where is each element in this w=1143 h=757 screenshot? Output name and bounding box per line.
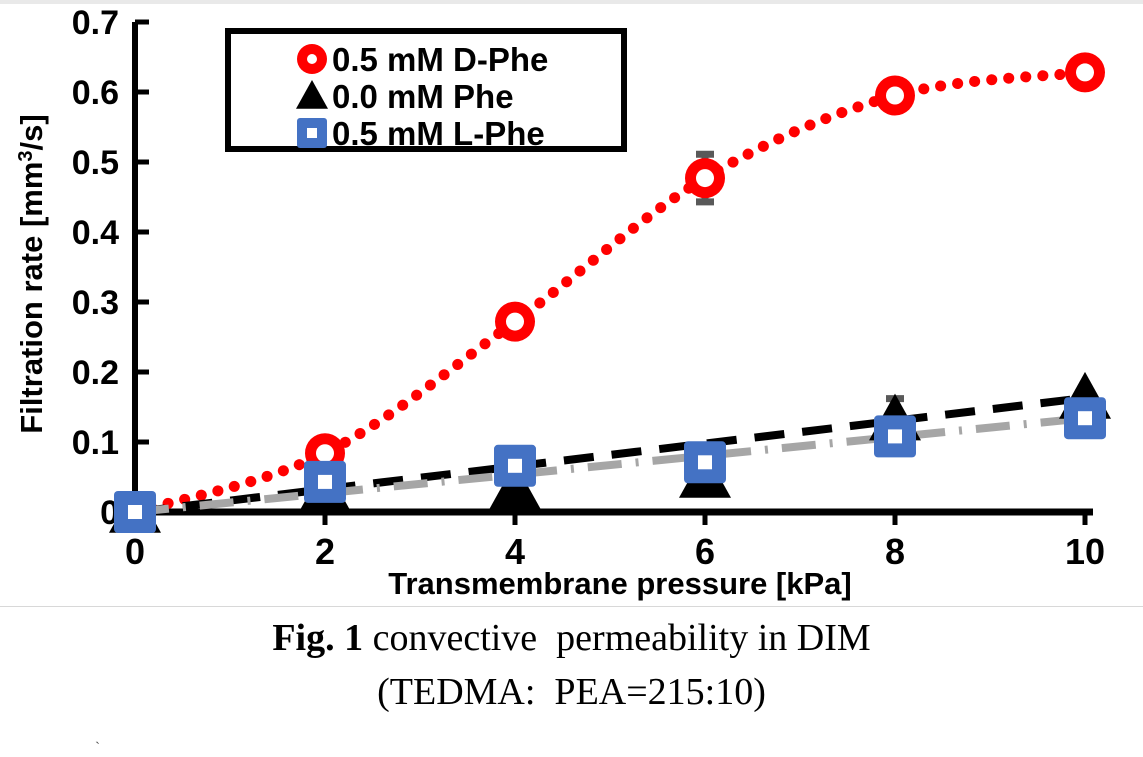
y-tick-label: 0.1 (72, 424, 119, 462)
legend-marker-circle-inner (307, 54, 317, 64)
x-axis-title: Transmembrane pressure [kPa] (388, 566, 852, 601)
legend-entry: 0.5 mM D-Phe (297, 41, 548, 78)
figure-caption: Fig. 1 convective permeability in DIM (T… (0, 612, 1143, 720)
y-tick-label: 0.5 (72, 144, 119, 182)
y-tick-label: 0.3 (72, 284, 119, 322)
caption-line-1: Fig. 1 convective permeability in DIM (0, 612, 1143, 666)
legend-marker-square-inner (307, 128, 317, 138)
y-tick-label: 0.6 (72, 74, 119, 112)
data-point-group (114, 491, 156, 533)
legend-entry: 0.5 mM L-Phe (297, 115, 545, 152)
marker-square-inner (318, 475, 332, 489)
marker-square-inner (698, 455, 712, 469)
marker-circle-inner (1076, 63, 1094, 81)
data-point-group (304, 461, 346, 503)
y-axis-title-suffix: /s] (14, 114, 49, 150)
chart-figure: 00.10.20.30.40.50.60.7 0246810 Filtratio… (0, 4, 1143, 608)
page-corner-mark: ` (95, 740, 100, 757)
y-tick-label: 0.7 (72, 4, 119, 42)
x-tick-label: 10 (1065, 531, 1105, 572)
x-tick-label: 0 (125, 531, 145, 572)
svg-text:Filtration rate [mm3/s]: Filtration rate [mm3/s] (14, 114, 49, 433)
chart-legend: 0.5 mM D-Phe0.0 mM Phe0.5 mM L-Phe (228, 31, 624, 152)
y-axis-title-superscript: 3 (15, 150, 37, 161)
x-tick-label: 2 (315, 531, 335, 572)
marker-circle-inner (696, 169, 714, 187)
x-axis-title-text: Transmembrane pressure [kPa] (388, 566, 852, 601)
marker-square-inner (508, 459, 522, 473)
data-point-group (684, 441, 726, 483)
data-point-group (1064, 397, 1106, 439)
marker-square-inner (888, 429, 902, 443)
marker-circle-inner (316, 444, 334, 462)
x-tick-label: 8 (885, 531, 905, 572)
caption-figure-number: Fig. 1 (272, 617, 363, 659)
data-point-group (494, 445, 536, 487)
legend-label: 0.0 mM Phe (332, 78, 514, 115)
y-tick-label: 0.4 (72, 214, 119, 252)
caption-line-1-text: convective permeability in DIM (363, 617, 871, 659)
marker-circle-inner (886, 87, 904, 105)
marker-square-inner (1078, 411, 1092, 425)
y-axis-title-text: Filtration rate [mm (14, 162, 49, 434)
figure-page: 00.10.20.30.40.50.60.7 0246810 Filtratio… (0, 0, 1143, 756)
data-point-group (1065, 52, 1105, 92)
data-point-group (874, 415, 916, 457)
legend-label: 0.5 mM D-Phe (332, 41, 548, 78)
caption-line-2: (TEDMA: PEA=215:10) (0, 666, 1143, 720)
permeability-chart: 00.10.20.30.40.50.60.7 0246810 Filtratio… (0, 4, 1143, 608)
marker-square-inner (128, 505, 142, 519)
caption-line-2-text: (TEDMA: PEA=215:10) (377, 671, 766, 713)
legend-label: 0.5 mM L-Phe (332, 115, 545, 152)
caption-separator (0, 606, 1143, 607)
data-point-group (875, 76, 915, 116)
y-tick-label: 0.2 (72, 354, 119, 392)
y-axis-title: Filtration rate [mm3/s] (14, 114, 49, 433)
data-point-group (495, 302, 535, 342)
marker-circle-inner (506, 313, 524, 331)
